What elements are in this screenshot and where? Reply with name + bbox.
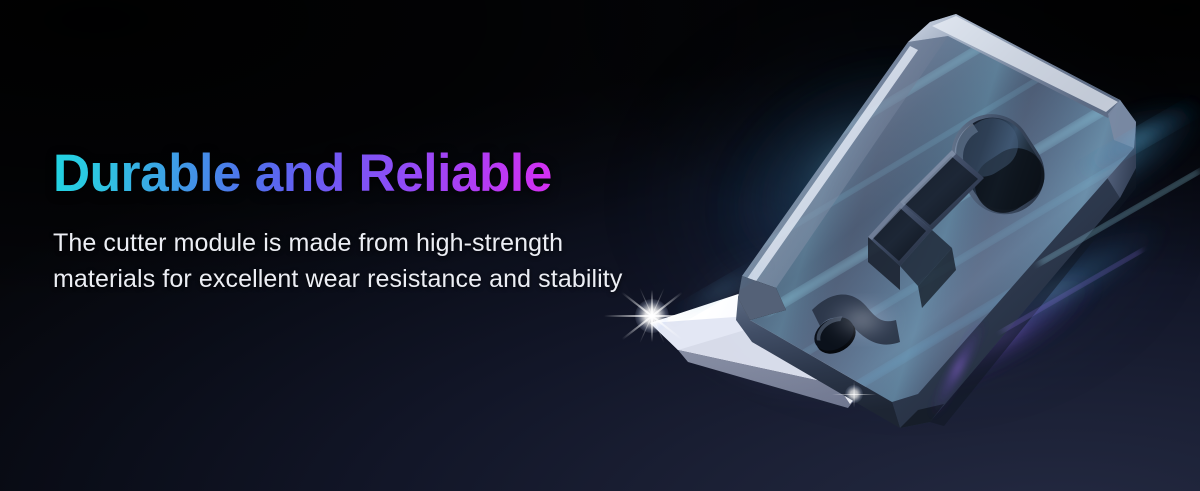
page-title: Durable and Reliable [53,146,635,202]
product-feature-banner: Durable and Reliable The cutter module i… [0,0,1200,491]
description-line-1: The cutter module is made from high-stre… [53,226,653,262]
banner-text-block: Durable and Reliable The cutter module i… [53,146,653,297]
description-line-2: materials for excellent wear resistance … [53,262,653,298]
product-image [600,0,1200,490]
banner-description: The cutter module is made from high-stre… [53,226,653,297]
